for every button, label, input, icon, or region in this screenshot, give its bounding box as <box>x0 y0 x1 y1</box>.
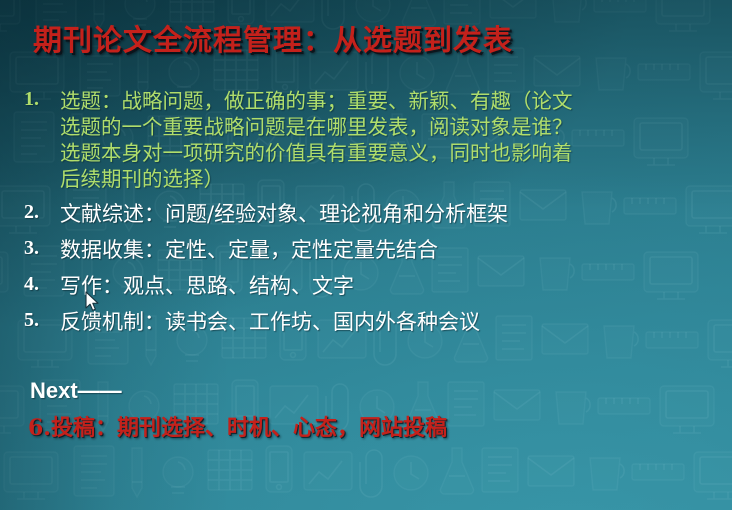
list-item-1: 1. 选题：战略问题，做正确的事；重要、新颖、有趣（论文 选题的一个重要战略问题… <box>0 88 732 192</box>
list-item-2: 2. 文献综述：问题/经验对象、理论视角和分析框架 <box>0 201 732 228</box>
list-item-5-text: 反馈机制：读书会、工作坊、国内外各种会议 <box>60 309 732 336</box>
list-item-1-text: 选题：战略问题，做正确的事；重要、新颖、有趣（论文 选题的一个重要战略问题是在哪… <box>60 88 732 192</box>
list-item-3-number: 3. <box>0 237 60 260</box>
list-item-3-text: 数据收集：定性、定量，定性定量先结合 <box>60 237 732 264</box>
list-item-5: 5. 反馈机制：读书会、工作坊、国内外各种会议 <box>0 309 732 336</box>
list-item-4-number: 4. <box>0 273 60 296</box>
slide-title: 期刊论文全流程管理：从选题到发表 <box>33 17 513 59</box>
list-item-3: 3. 数据收集：定性、定量，定性定量先结合 <box>0 237 732 264</box>
presentation-slide: 期刊论文全流程管理：从选题到发表 1. 选题：战略问题，做正确的事；重要、新颖、… <box>0 0 732 510</box>
list-item-2-line-1: 文献综述：问题/经验对象、理论视角和分析框架 <box>60 201 732 228</box>
list-item-1-line-3: 选题本身对一项研究的价值具有重要意义，同时也影响着 <box>60 140 732 166</box>
list-item-1-number: 1. <box>0 88 60 111</box>
list-item-1-line-4: 后续期刊的选择） <box>60 166 732 192</box>
list-item-4-line-1: 写作：观点、思路、结构、文字 <box>60 273 732 300</box>
list-item-5-number: 5. <box>0 309 60 332</box>
list-item-2-text: 文献综述：问题/经验对象、理论视角和分析框架 <box>60 201 732 228</box>
list-item-4: 4. 写作：观点、思路、结构、文字 <box>0 273 732 300</box>
list-item-6: 6.投稿：期刊选择、时机、心态，网站投稿 <box>28 410 447 442</box>
next-section-label: Next—— <box>30 378 122 404</box>
slide-body-list: 1. 选题：战略问题，做正确的事；重要、新颖、有趣（论文 选题的一个重要战略问题… <box>0 88 732 336</box>
list-item-4-text: 写作：观点、思路、结构、文字 <box>60 273 732 300</box>
list-item-1-line-1: 选题：战略问题，做正确的事；重要、新颖、有趣（论文 <box>60 88 732 114</box>
list-item-5-line-1: 反馈机制：读书会、工作坊、国内外各种会议 <box>60 309 732 336</box>
list-item-3-line-1: 数据收集：定性、定量，定性定量先结合 <box>60 237 732 264</box>
list-item-2-number: 2. <box>0 201 60 224</box>
list-item-1-line-2: 选题的一个重要战略问题是在哪里发表，阅读对象是谁？ <box>60 114 732 140</box>
